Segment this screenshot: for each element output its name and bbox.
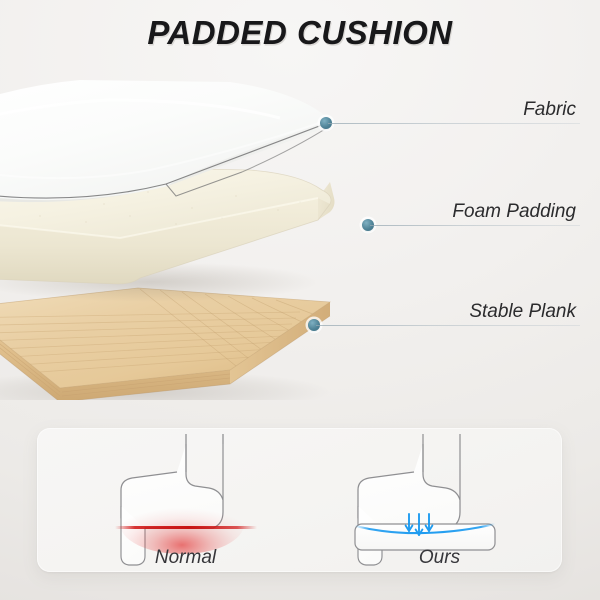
- callout-leader-line-fabric: [328, 123, 580, 124]
- comparison-caption-normal: Normal: [118, 547, 253, 569]
- callout-leader-line-plank: [316, 325, 580, 326]
- callout-label-foam-padding: Foam Padding: [452, 201, 576, 223]
- callout-leader-line-foam: [370, 225, 580, 226]
- callout-foam-padding: Foam Padding: [362, 215, 590, 235]
- page-title-text: PADDED CUSHION: [147, 14, 452, 51]
- callout-label-stable-plank: Stable Plank: [469, 301, 576, 323]
- callout-stable-plank: Stable Plank: [308, 315, 590, 335]
- normal-scenario-figure: [115, 434, 257, 565]
- callout-fabric: Fabric: [320, 113, 590, 133]
- callout-label-fabric: Fabric: [523, 99, 576, 121]
- page-title: PADDED CUSHION: [0, 14, 600, 52]
- ours-scenario-figure: [355, 434, 495, 565]
- comparison-caption-ours: Ours: [372, 547, 507, 569]
